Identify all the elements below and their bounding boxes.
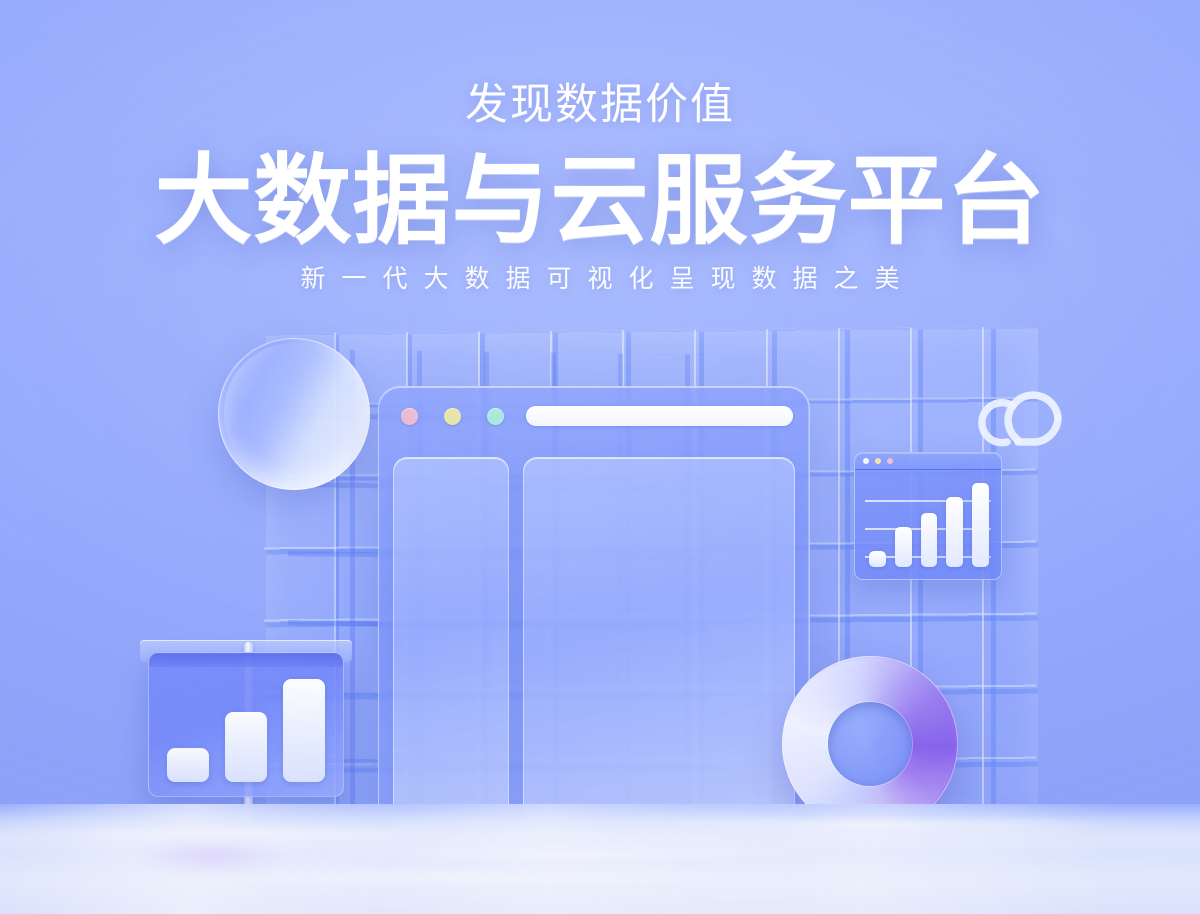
browser-title-bar <box>379 387 809 445</box>
donut-hole <box>828 702 912 786</box>
traffic-light-white-icon[interactable] <box>863 458 869 464</box>
floor-streak <box>40 830 460 837</box>
bar <box>225 712 267 782</box>
bar <box>921 513 938 567</box>
traffic-light-teal-icon[interactable] <box>487 408 504 425</box>
browser-content <box>379 445 809 830</box>
floor-tint <box>120 832 300 878</box>
bar <box>972 483 989 567</box>
bar <box>283 679 325 782</box>
monitor-chart-bars <box>167 679 325 782</box>
floor-streak <box>620 822 1140 829</box>
glass-disc <box>218 338 370 490</box>
page-title: 大数据与云服务平台 <box>0 151 1200 251</box>
address-bar-input[interactable] <box>526 406 793 426</box>
floor-streak <box>300 850 860 857</box>
sidebar-panel[interactable] <box>393 457 509 830</box>
mini-chart-window[interactable] <box>854 452 1002 580</box>
bar <box>946 497 963 567</box>
hero-eyebrow: 发现数据价值 <box>0 84 1200 127</box>
bar <box>869 551 886 567</box>
hero-stage: 发现数据价值 大数据与云服务平台 新一代大数据可视化呈现数据之美 <box>0 0 1200 914</box>
monitor-screen-header <box>149 653 343 667</box>
content-panel[interactable] <box>523 457 795 830</box>
traffic-light-pink-icon[interactable] <box>401 408 418 425</box>
hero-text-block: 发现数据价值 大数据与云服务平台 新一代大数据可视化呈现数据之美 <box>0 84 1200 292</box>
floor-streak <box>120 874 820 881</box>
bar <box>895 527 912 567</box>
traffic-light-yellow-icon[interactable] <box>444 408 461 425</box>
hero-tagline: 新一代大数据可视化呈现数据之美 <box>0 267 1200 292</box>
browser-mockup[interactable] <box>378 386 810 830</box>
traffic-light-pink-icon[interactable] <box>887 458 893 464</box>
reflective-floor <box>0 804 1200 914</box>
mini-window-chart-area <box>855 470 1001 580</box>
mini-window-title-bar <box>855 453 1001 470</box>
traffic-light-yellow-icon[interactable] <box>875 458 881 464</box>
cloud-icon <box>974 362 1078 448</box>
mini-chart-bars <box>869 480 989 567</box>
bar <box>167 748 209 782</box>
monitor-screen[interactable] <box>148 652 344 797</box>
